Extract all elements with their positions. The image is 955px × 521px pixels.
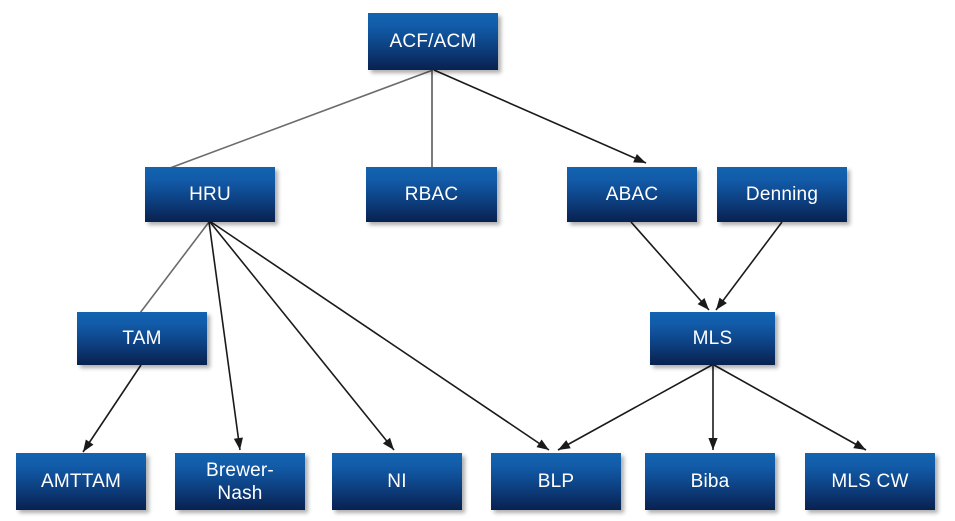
node-brewer-nash[interactable]: Brewer- Nash bbox=[175, 453, 305, 510]
node-rbac[interactable]: RBAC bbox=[366, 167, 497, 222]
node-tam[interactable]: TAM bbox=[77, 312, 207, 365]
arrowhead-hru-to-blp bbox=[536, 439, 549, 450]
edge-mls-to-blp bbox=[558, 365, 712, 450]
arrowhead-mls-to-biba bbox=[708, 438, 717, 450]
node-label: MLS bbox=[650, 327, 775, 350]
node-blp[interactable]: BLP bbox=[491, 453, 621, 510]
arrowhead-acfacm-to-abac bbox=[633, 154, 646, 163]
node-label: Brewer- Nash bbox=[175, 459, 305, 505]
node-label: ABAC bbox=[567, 183, 697, 206]
node-hru[interactable]: HRU bbox=[145, 167, 275, 222]
edge-acfacm-to-abac bbox=[434, 70, 646, 163]
arrowhead-hru-to-ni bbox=[383, 438, 394, 450]
node-label: AMTTAM bbox=[16, 470, 146, 493]
node-label: BLP bbox=[491, 470, 621, 493]
node-label: RBAC bbox=[366, 183, 497, 206]
node-mls[interactable]: MLS bbox=[650, 312, 775, 365]
edge-hru-to-blp bbox=[211, 222, 549, 450]
node-biba[interactable]: Biba bbox=[645, 453, 775, 510]
node-label: NI bbox=[332, 470, 462, 493]
node-amttam[interactable]: AMTTAM bbox=[16, 453, 146, 510]
node-ni[interactable]: NI bbox=[332, 453, 462, 510]
diagram-canvas: ACF/ACM HRU RBAC ABAC Denning TAM MLS AM… bbox=[0, 0, 955, 521]
node-label: Biba bbox=[645, 470, 775, 493]
node-label: TAM bbox=[77, 327, 207, 350]
edge-abac-to-mls bbox=[631, 222, 709, 310]
edge-tam-to-amttam bbox=[83, 365, 141, 452]
edge-hru-to-ni bbox=[210, 222, 394, 450]
edge-layer bbox=[0, 0, 955, 521]
node-denning[interactable]: Denning bbox=[717, 167, 847, 222]
edge-hru-to-brewer bbox=[209, 222, 240, 450]
node-label: ACF/ACM bbox=[368, 30, 498, 53]
node-label: HRU bbox=[145, 183, 275, 206]
arrowhead-mls-to-mlscw bbox=[853, 440, 866, 450]
edge-denning-to-mls bbox=[716, 222, 782, 310]
edge-hru-to-tam bbox=[140, 222, 209, 313]
node-abac[interactable]: ABAC bbox=[567, 167, 697, 222]
node-mls-cw[interactable]: MLS CW bbox=[805, 453, 935, 510]
edge-acfacm-to-hru bbox=[170, 70, 433, 168]
node-label: Denning bbox=[717, 183, 847, 206]
arrowhead-tam-to-amttam bbox=[83, 439, 93, 452]
arrowhead-denning-to-mls bbox=[716, 298, 727, 310]
node-label: MLS CW bbox=[805, 470, 935, 493]
arrowhead-mls-to-blp bbox=[558, 440, 571, 450]
edge-mls-to-mlscw bbox=[714, 365, 866, 450]
arrowhead-abac-to-mls bbox=[698, 298, 709, 310]
node-acfacm[interactable]: ACF/ACM bbox=[368, 13, 498, 70]
arrowhead-hru-to-brewer bbox=[234, 437, 243, 450]
